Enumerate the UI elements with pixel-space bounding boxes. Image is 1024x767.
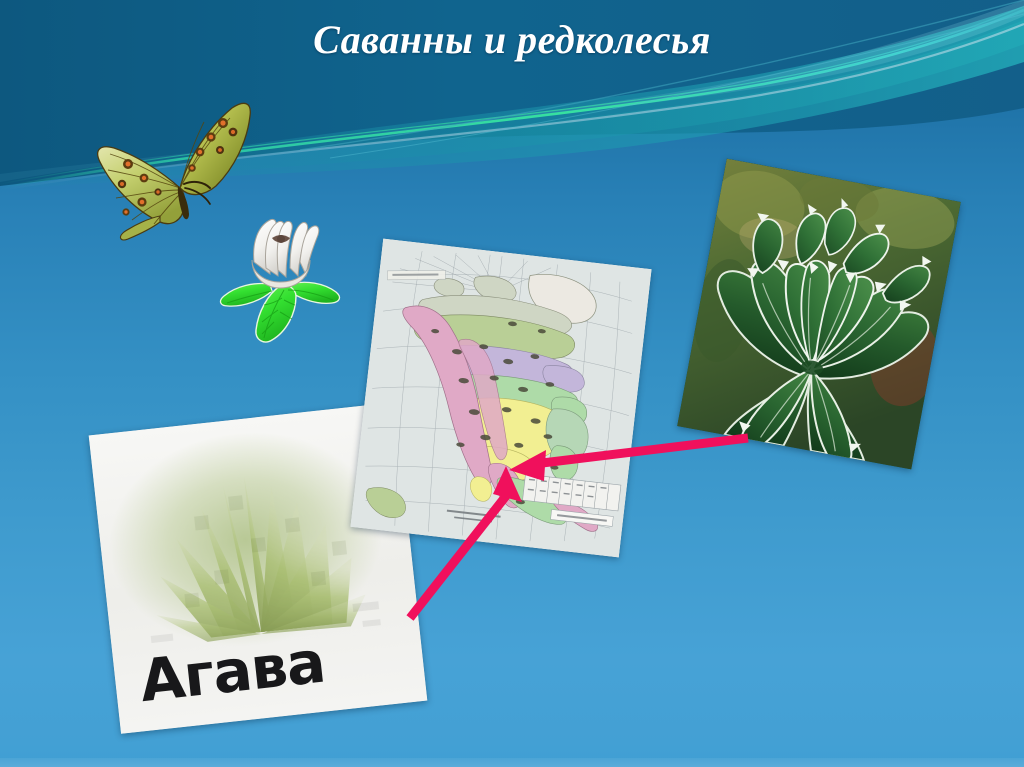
agave-photo-card[interactable] <box>677 159 961 470</box>
bottom-accent-band <box>0 758 1024 767</box>
biome-map <box>350 239 651 558</box>
agave-rosette-photo <box>677 159 961 470</box>
presentation-slide: Саванны и редколесья <box>0 0 1024 767</box>
flower-icon <box>214 198 346 348</box>
slide-title: Саванны и редколесья <box>0 16 1024 63</box>
north-america-map-card[interactable] <box>350 239 651 558</box>
